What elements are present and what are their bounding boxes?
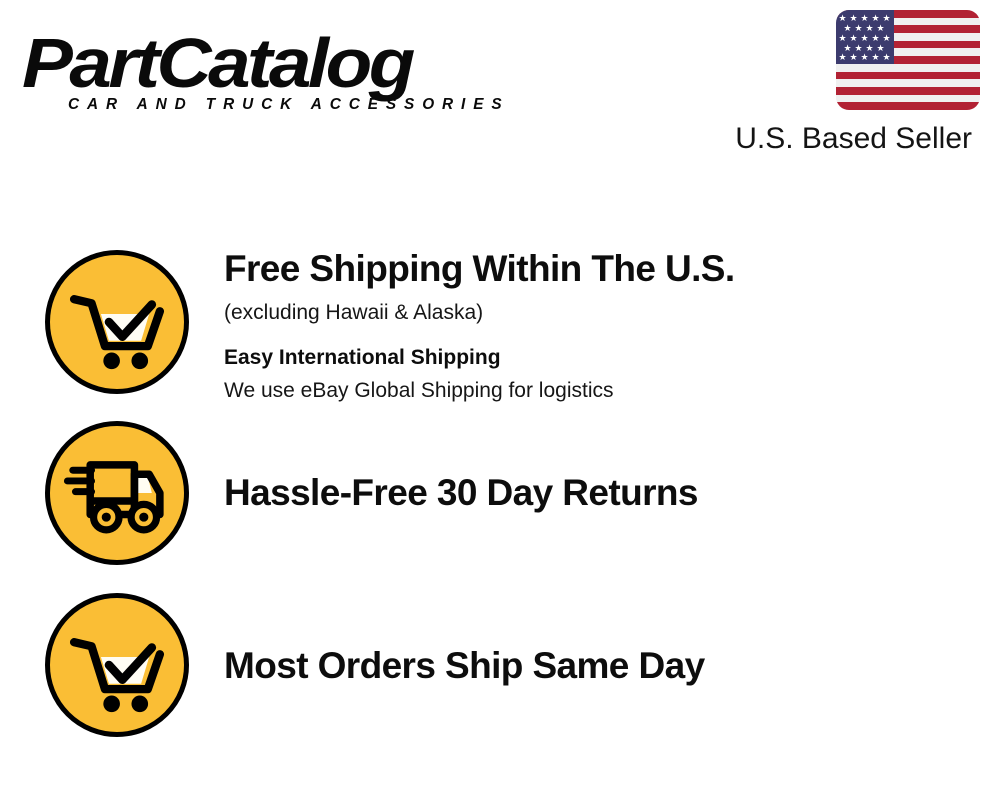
flag-stripe (836, 72, 980, 80)
flag-star: ★ (849, 53, 858, 62)
us-based-seller-badge: ★ ★ ★ ★ ★ ★ ★ ★ ★ ★ ★ ★ ★ ★ ★ ★ ★ ★ ★ ★ (836, 10, 982, 110)
flag-star: ★ (838, 53, 847, 62)
flag-star: ★ (871, 14, 880, 23)
flag-star: ★ (860, 34, 869, 43)
flag-star: ★ (854, 24, 863, 33)
flag-stripe (836, 87, 980, 95)
flag-star: ★ (871, 34, 880, 43)
feature-text-same-day-ship: Most Orders Ship Same Day (224, 643, 984, 688)
flag-star: ★ (882, 53, 891, 62)
flag-star: ★ (860, 14, 869, 23)
brand-wordmark: PartCatalog (22, 20, 412, 106)
feature-text-returns: Hassle-Free 30 Day Returns (224, 470, 984, 515)
flag-star: ★ (865, 24, 874, 33)
flag-canton: ★ ★ ★ ★ ★ ★ ★ ★ ★ ★ ★ ★ ★ ★ ★ ★ ★ ★ ★ ★ (836, 10, 894, 64)
united-states-flag-icon: ★ ★ ★ ★ ★ ★ ★ ★ ★ ★ ★ ★ ★ ★ ★ ★ ★ ★ ★ ★ (836, 10, 980, 110)
brand-logo[interactable]: PartCatalog CAR AND TRUCK ACCESSORIES (22, 22, 492, 117)
flag-star: ★ (838, 34, 847, 43)
flag-star: ★ (882, 14, 891, 23)
flag-star: ★ (882, 34, 891, 43)
feature-strong-line: Easy International Shipping (224, 344, 984, 371)
flag-star: ★ (849, 14, 858, 23)
feature-subtitle: (excluding Hawaii & Alaska) (224, 299, 984, 327)
flag-star: ★ (860, 53, 869, 62)
feature-text-free-shipping: Free Shipping Within The U.S. (excluding… (224, 246, 984, 404)
seller-info-banner: PartCatalog CAR AND TRUCK ACCESSORIES ★ … (0, 0, 1000, 800)
shopping-cart-check-icon (45, 250, 189, 394)
delivery-truck-icon (45, 421, 189, 565)
flag-star: ★ (843, 24, 852, 33)
brand-tagline: CAR AND TRUCK ACCESSORIES (68, 96, 510, 114)
flag-star: ★ (876, 24, 885, 33)
flag-star: ★ (849, 34, 858, 43)
feature-note: We use eBay Global Shipping for logistic… (224, 377, 984, 404)
flag-stripe (836, 64, 980, 72)
feature-title: Most Orders Ship Same Day (224, 643, 984, 688)
flag-stripe (836, 79, 980, 87)
shopping-cart-check-icon (45, 593, 189, 737)
feature-title: Hassle-Free 30 Day Returns (224, 470, 984, 515)
us-based-seller-label: U.S. Based Seller (735, 122, 972, 156)
flag-stripe (836, 95, 980, 103)
flag-star: ★ (838, 14, 847, 23)
feature-title: Free Shipping Within The U.S. (224, 246, 984, 291)
flag-star: ★ (871, 53, 880, 62)
flag-stripe (836, 102, 980, 110)
